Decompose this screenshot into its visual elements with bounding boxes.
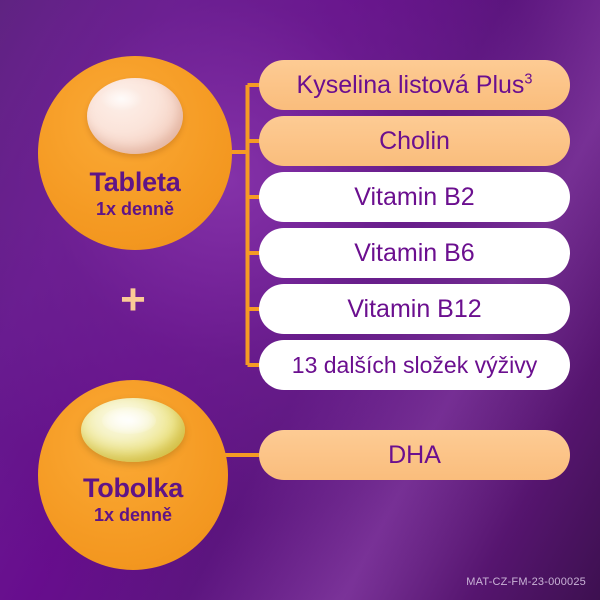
- ingredient-pill[interactable]: DHA: [259, 430, 570, 480]
- ingredient-label: 13 dalších složek výživy: [292, 352, 537, 379]
- ingredient-pill[interactable]: Vitamin B6: [259, 228, 570, 278]
- group-tablet[interactable]: Tableta 1x denně: [38, 56, 232, 250]
- group-tablet-subtitle: 1x denně: [96, 198, 174, 221]
- plus-icon: +: [117, 285, 149, 317]
- group-capsule-title: Tobolka: [83, 474, 183, 502]
- ingredient-pill[interactable]: Kyselina listová Plus3: [259, 60, 570, 110]
- group-capsule[interactable]: Tobolka 1x denně: [38, 380, 228, 570]
- ingredient-pill[interactable]: 13 dalších složek výživy: [259, 340, 570, 390]
- tablet-icon: [87, 78, 183, 154]
- ingredient-pill[interactable]: Cholin: [259, 116, 570, 166]
- ingredient-pill[interactable]: Vitamin B2: [259, 172, 570, 222]
- group-capsule-subtitle: 1x denně: [94, 504, 172, 527]
- ingredient-label: Kyselina listová Plus3: [297, 71, 533, 100]
- ingredient-label: Cholin: [379, 127, 450, 156]
- softgel-capsule-icon: [81, 398, 185, 462]
- ingredient-label: DHA: [388, 441, 441, 470]
- ingredient-pill[interactable]: Vitamin B12: [259, 284, 570, 334]
- group-tablet-title: Tableta: [89, 168, 180, 196]
- ingredient-superscript: 3: [524, 71, 532, 87]
- ingredient-label: Vitamin B6: [354, 239, 474, 268]
- infographic-canvas: Tableta 1x denně + Tobolka 1x denně Kyse…: [0, 0, 600, 600]
- ingredient-label: Vitamin B12: [347, 295, 481, 324]
- ingredient-label: Vitamin B2: [354, 183, 474, 212]
- material-code: MAT-CZ-FM-23-000025: [466, 576, 586, 588]
